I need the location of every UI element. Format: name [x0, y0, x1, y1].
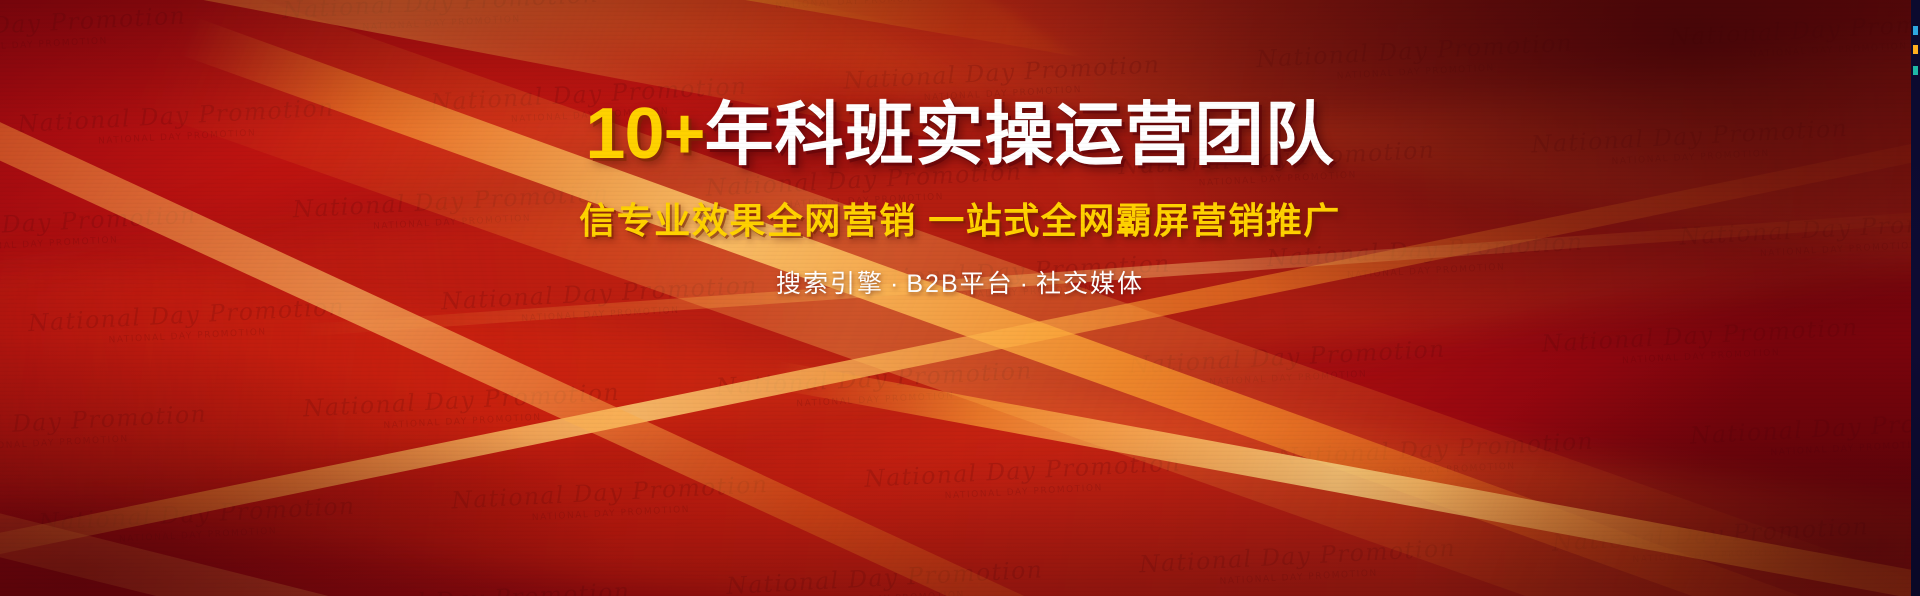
page-title: 10+年科班实操运营团队: [0, 96, 1920, 172]
edge-indicator-dot: [1913, 66, 1918, 75]
banner-tagline: 搜索引擎·B2B平台·社交媒体: [0, 264, 1920, 300]
tagline-separator: ·: [1014, 270, 1036, 298]
promo-banner: National Day Promotion NATIONAL DAY PROM…: [0, 0, 1920, 596]
tagline-separator: ·: [884, 270, 906, 298]
tagline-item-social-media: 社交媒体: [1036, 270, 1144, 298]
tagline-item-b2b-platform: B2B平台: [906, 270, 1013, 298]
tagline-item-search-engine: 搜索引擎: [776, 270, 884, 298]
headline-number: 10+: [585, 94, 704, 174]
next-slide-edge-sliver[interactable]: [1911, 0, 1920, 596]
edge-indicator-dot: [1913, 26, 1918, 35]
banner-subtitle: 信专业效果全网营销 一站式全网霸屏营销推广: [0, 192, 1920, 244]
edge-indicator-dot: [1913, 45, 1918, 54]
headline-text: 年科班实操运营团队: [705, 96, 1335, 173]
banner-text-block: 10+年科班实操运营团队 信专业效果全网营销 一站式全网霸屏营销推广 搜索引擎·…: [0, 96, 1920, 300]
